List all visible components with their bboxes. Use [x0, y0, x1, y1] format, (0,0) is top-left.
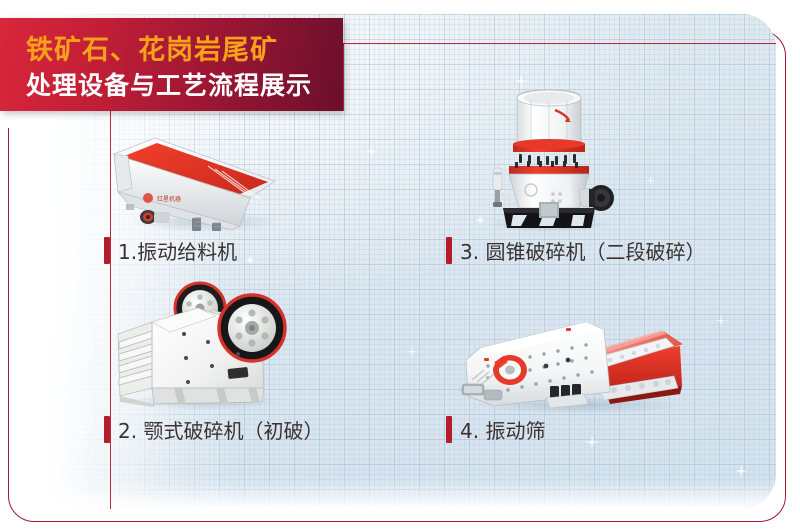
poster-stage: 铁矿石、花岗岩尾矿 处理设备与工艺流程展示	[0, 0, 800, 530]
vibrating-screen-icon	[458, 300, 686, 412]
divider-horizontal	[343, 43, 776, 44]
label-marker-bar	[104, 237, 110, 264]
label-item-1: 1.振动给料机	[104, 236, 237, 265]
divider-vertical-right	[343, 43, 344, 111]
label-marker-bar	[446, 416, 452, 443]
label-item-2: 2. 颚式破碎机（初破）	[104, 415, 323, 444]
label-item-1-text: 1.振动给料机	[118, 236, 237, 265]
cone-crusher-icon	[483, 82, 643, 230]
title-banner: 铁矿石、花岗岩尾矿 处理设备与工艺流程展示	[0, 18, 343, 111]
label-item-4: 4. 振动筛	[446, 415, 545, 444]
label-item-2-text: 2. 颚式破碎机（初破）	[118, 415, 323, 444]
label-item-3: 3. 圆锥破碎机（二段破碎）	[446, 236, 705, 265]
jaw-crusher-icon	[112, 276, 297, 409]
label-marker-bar	[104, 416, 110, 443]
title-line-1: 铁矿石、花岗岩尾矿	[26, 28, 278, 67]
label-marker-bar	[446, 237, 452, 264]
svg-text:红星机器: 红星机器	[157, 195, 181, 203]
divider-vertical-left	[110, 111, 111, 509]
label-item-4-text: 4. 振动筛	[460, 415, 545, 444]
label-item-3-text: 3. 圆锥破碎机（二段破碎）	[460, 236, 705, 265]
title-line-2: 处理设备与工艺流程展示	[26, 66, 312, 102]
vibrating-feeder-icon: 红星机器	[100, 126, 285, 231]
bottom-fade	[44, 480, 776, 508]
